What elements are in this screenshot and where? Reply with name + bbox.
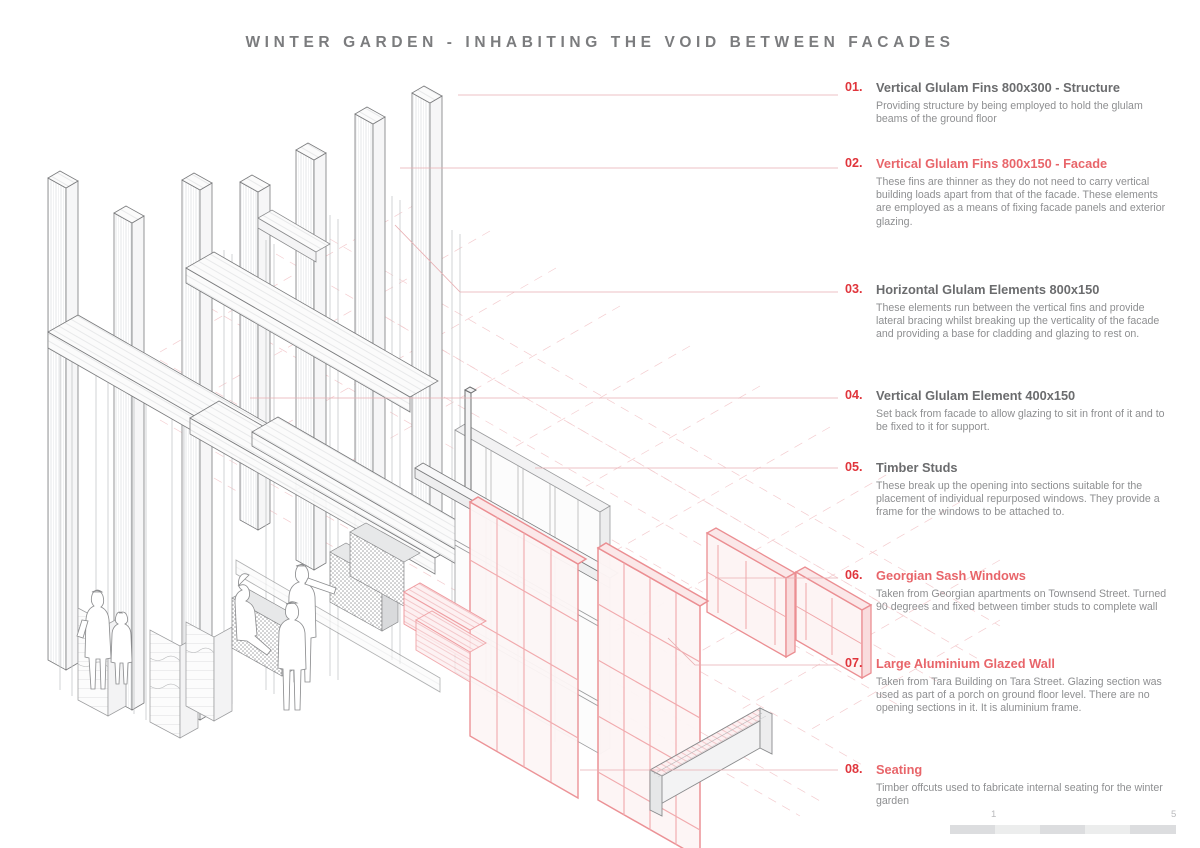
legend-head: 08. Seating [845, 762, 1177, 777]
legend-head: 05. Timber Studs [845, 460, 1177, 475]
legend-title: Seating [876, 762, 922, 777]
legend-item-01[interactable]: 01. Vertical Glulam Fins 800x300 - Struc… [845, 80, 1177, 126]
legend-number: 02. [845, 156, 876, 171]
drawing-sheet: WINTER GARDEN - INHABITING THE VOID BETW… [0, 0, 1200, 848]
legend-number: 05. [845, 460, 876, 475]
legend-body: These break up the opening into sections… [876, 480, 1168, 520]
legend-head: 07. Large Aluminium Glazed Wall [845, 656, 1177, 671]
legend-title: Georgian Sash Windows [876, 568, 1026, 583]
legend-head: 01. Vertical Glulam Fins 800x300 - Struc… [845, 80, 1177, 95]
scale-bar-label-5: 5 [1171, 809, 1176, 820]
legend-item-07[interactable]: 07. Large Aluminium Glazed Wall Taken fr… [845, 656, 1177, 716]
legend-item-04[interactable]: 04. Vertical Glulam Element 400x150 Set … [845, 388, 1177, 434]
legend-head: 06. Georgian Sash Windows [845, 568, 1177, 583]
legend-number: 06. [845, 568, 876, 583]
legend-title: Timber Studs [876, 460, 958, 475]
legend-title: Vertical Glulam Element 400x150 [876, 388, 1075, 403]
legend-item-05[interactable]: 05. Timber Studs These break up the open… [845, 460, 1177, 520]
legend-title: Large Aluminium Glazed Wall [876, 656, 1055, 671]
legend-title: Horizontal Glulam Elements 800x150 [876, 282, 1099, 297]
leader-03 [395, 225, 838, 292]
legend-body: Providing structure by being employed to… [876, 100, 1168, 126]
legend-item-08[interactable]: 08. Seating Timber offcuts used to fabri… [845, 762, 1177, 808]
legend-body: These fins are thinner as they do not ne… [876, 176, 1168, 229]
legend-item-02[interactable]: 02. Vertical Glulam Fins 800x150 - Facad… [845, 156, 1177, 229]
scale-bar-segment [1040, 825, 1085, 834]
legend-number: 08. [845, 762, 876, 777]
legend-number: 01. [845, 80, 876, 95]
legend-body: Taken from Georgian apartments on Townse… [876, 588, 1168, 614]
legend-title: Vertical Glulam Fins 800x150 - Facade [876, 156, 1107, 171]
scale-bar: 1 5 [950, 812, 1176, 842]
legend-number: 04. [845, 388, 876, 403]
scale-bar-label-1: 1 [991, 809, 996, 820]
scale-bar-segment [1130, 825, 1176, 834]
legend-head: 04. Vertical Glulam Element 400x150 [845, 388, 1177, 403]
legend-item-03[interactable]: 03. Horizontal Glulam Elements 800x150 T… [845, 282, 1177, 342]
legend-head: 02. Vertical Glulam Fins 800x150 - Facad… [845, 156, 1177, 171]
legend-head: 03. Horizontal Glulam Elements 800x150 [845, 282, 1177, 297]
legend-item-06[interactable]: 06. Georgian Sash Windows Taken from Geo… [845, 568, 1177, 614]
scale-bar-segment [950, 825, 995, 834]
legend-body: Taken from Tara Building on Tara Street.… [876, 676, 1168, 716]
legend-number: 07. [845, 656, 876, 671]
legend-body: Timber offcuts used to fabricate interna… [876, 782, 1168, 808]
legend-body: These elements run between the vertical … [876, 302, 1168, 342]
legend-title: Vertical Glulam Fins 800x300 - Structure [876, 80, 1120, 95]
legend-body: Set back from facade to allow glazing to… [876, 408, 1168, 434]
legend-number: 03. [845, 282, 876, 297]
